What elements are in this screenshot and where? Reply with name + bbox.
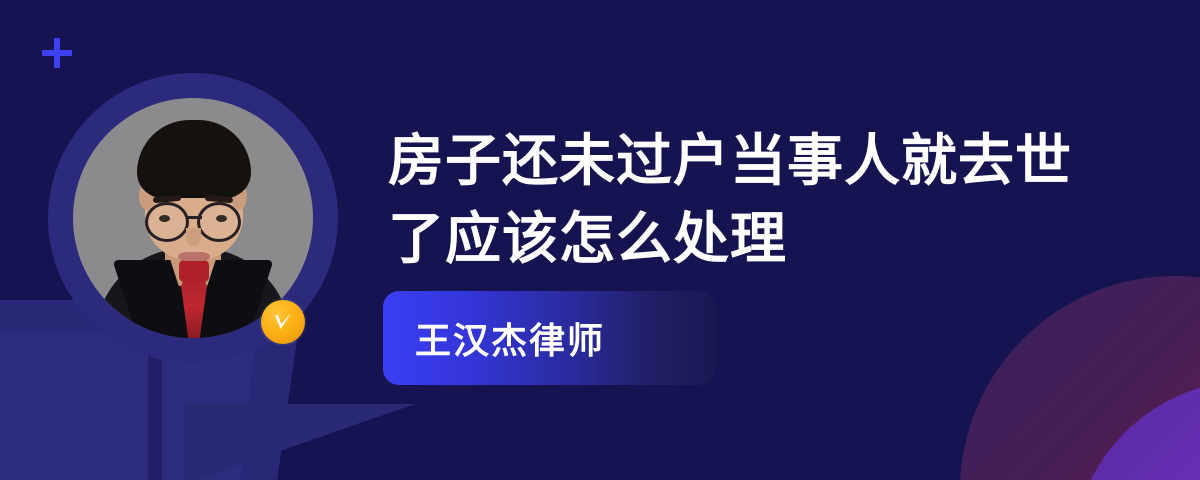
lawyer-name-label: 王汉杰律师 [383, 312, 605, 364]
portrait-hair [137, 120, 251, 198]
portrait-glasses-right [197, 202, 241, 242]
lawyer-topic-banner: 房子还未过户当事人就去世了应该怎么处理 王汉杰律师 [0, 0, 1200, 480]
page-title: 房子还未过户当事人就去世了应该怎么处理 [388, 122, 1108, 278]
verified-v-icon [261, 300, 305, 344]
portrait-tie-knot [179, 260, 209, 282]
portrait-mouth [178, 252, 210, 261]
lawyer-name-badge[interactable]: 王汉杰律师 [383, 291, 715, 385]
avatar [48, 73, 338, 363]
background-wedge-shape [185, 404, 415, 480]
plus-icon [42, 38, 72, 68]
portrait-glasses-left [145, 202, 189, 242]
portrait-glasses-bridge [188, 216, 202, 219]
portrait-nose [186, 228, 201, 246]
